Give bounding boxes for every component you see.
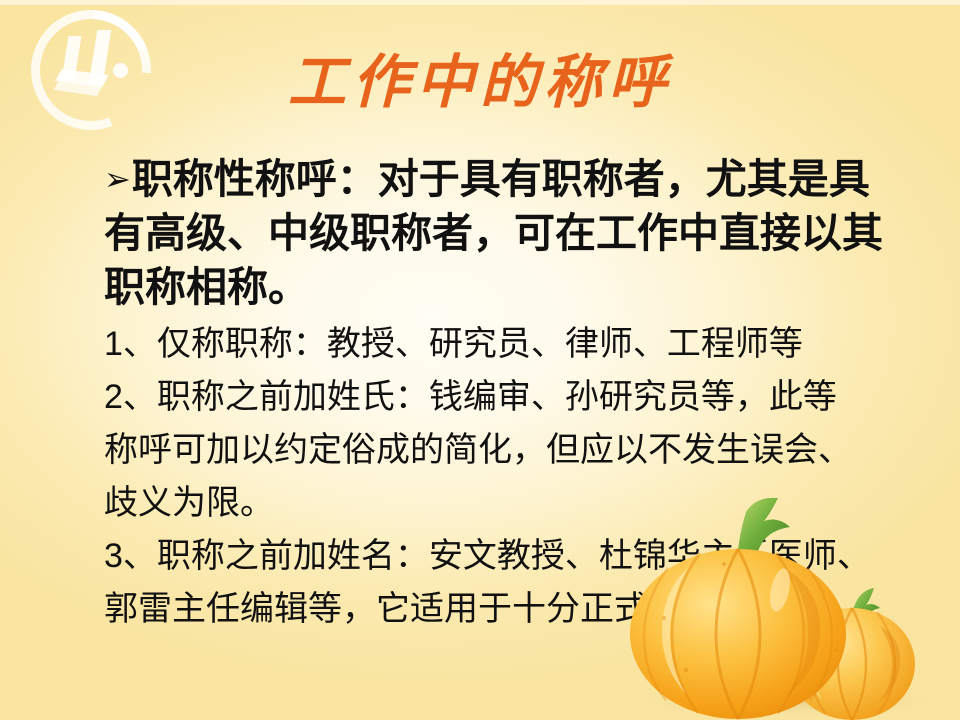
list-item-2-line-1: 2、职称之前加姓氏：钱编审、孙研究员等，此等 xyxy=(104,371,894,424)
slide-canvas: 工作中的称呼 ➢职称性称呼：对于具有职称者，尤其是具有高级、中级职称者，可在工作… xyxy=(0,0,960,720)
pumpkins-illustration xyxy=(628,498,960,720)
list-item-2-line-2: 称呼可加以约定俗成的简化，但应以不发生误会、 xyxy=(104,424,894,477)
slide-title: 工作中的称呼 xyxy=(0,52,960,115)
arrow-bullet-icon: ➢ xyxy=(104,161,131,197)
lead-paragraph: ➢职称性称呼：对于具有职称者，尤其是具有高级、中级职称者，可在工作中直接以其职称… xyxy=(104,152,894,314)
top-edge-band xyxy=(0,0,960,5)
list-item-1-line-1: 1、仅称职称：教授、研究员、律师、工程师等 xyxy=(104,318,894,371)
lead-line-1: 职称性称呼：对于具有职称者，尤其是 xyxy=(132,156,829,202)
